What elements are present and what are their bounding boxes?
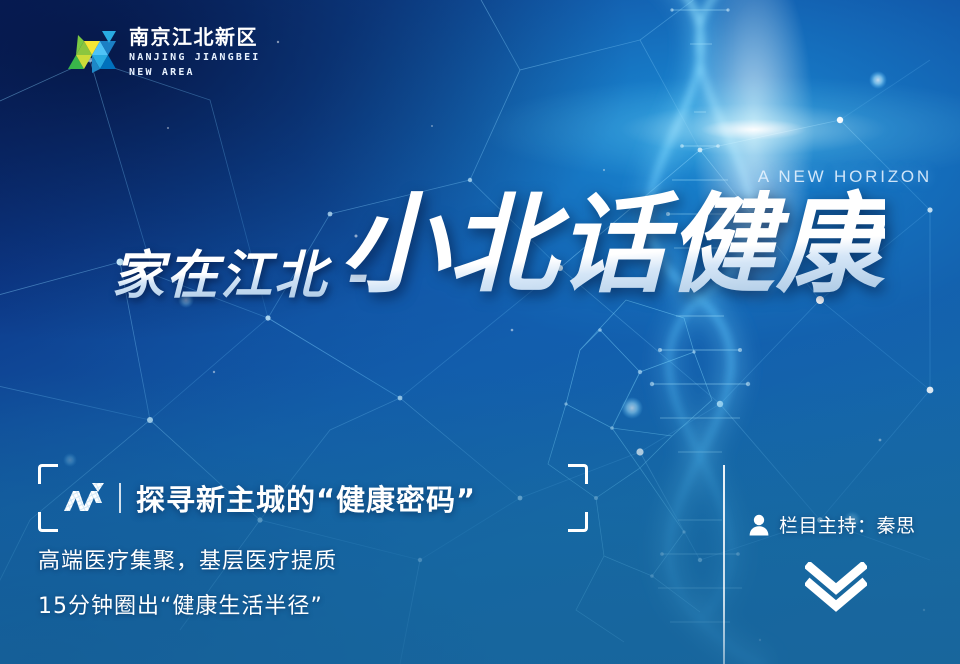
double-chevron-down-icon[interactable] [805, 562, 867, 614]
bracket-corner-bottom-right-icon [568, 512, 588, 532]
poster-root: 南京江北新区 NANJING JIANGBEI NEW AREA A NEW H… [0, 0, 960, 664]
nanjing-jiangbei-logo-icon [58, 29, 116, 77]
title-main: 小北话健康 [340, 186, 885, 307]
brand-name-en-line2: NEW AREA [129, 68, 261, 78]
person-icon [748, 513, 770, 536]
vertical-divider [723, 465, 725, 664]
brand-name-en-line1: NANJING JIANGBEI [129, 53, 261, 63]
subline-list: 高端医疗集聚，基层医疗提质 15分钟圈出“健康生活半径” [38, 551, 337, 641]
brand-text-block: 南京江北新区 NANJING JIANGBEI NEW AREA [129, 27, 261, 78]
highlight-separator [119, 483, 121, 513]
subline-2: 15分钟圈出“健康生活半径” [38, 596, 337, 618]
bracket-corner-bottom-left-icon [38, 512, 58, 532]
title-prefix: 家在江北 - [112, 233, 372, 308]
host-label: 栏目主持：秦思 [779, 511, 916, 538]
highlight-content: 探寻新主城的“健康密码” [62, 464, 570, 532]
main-title-block: 家在江北 - 小北话健康 [0, 186, 960, 316]
host-credit: 栏目主持：秦思 [748, 511, 916, 538]
n-monogram-icon [62, 481, 104, 515]
brand-logo[interactable]: 南京江北新区 NANJING JIANGBEI NEW AREA [58, 27, 261, 78]
highlight-headline: 探寻新主城的“健康密码” [136, 477, 476, 519]
highlight-bracket-frame: 探寻新主城的“健康密码” [38, 464, 588, 532]
bracket-corner-top-right-icon [568, 464, 588, 484]
brand-name-cn: 南京江北新区 [129, 27, 261, 47]
subline-1: 高端医疗集聚，基层医疗提质 [38, 551, 337, 573]
bracket-corner-top-left-icon [38, 464, 58, 484]
